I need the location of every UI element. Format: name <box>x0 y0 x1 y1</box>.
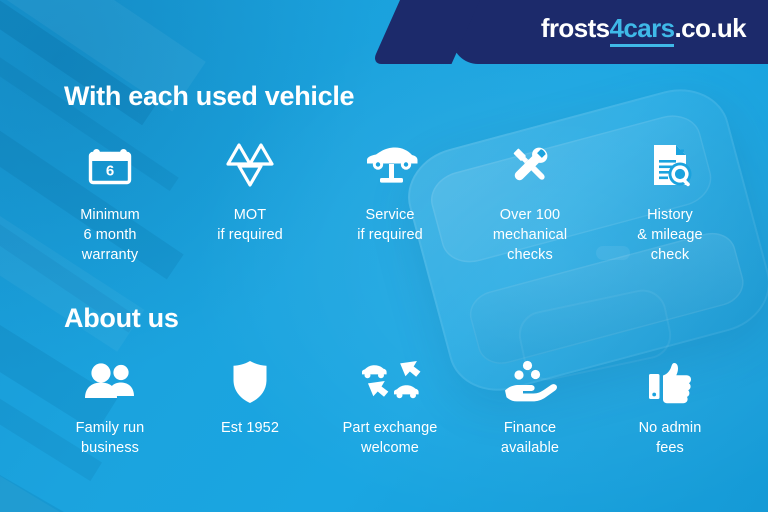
feature-row-about: Family run business Est 1952 <box>40 358 740 458</box>
svg-text:6: 6 <box>106 163 114 180</box>
logo-text-4cars: 4cars <box>610 13 675 47</box>
feature-finance: Finance available <box>460 358 600 458</box>
document-magnifier-icon <box>645 138 695 192</box>
feature-label: Finance available <box>501 418 559 458</box>
wrench-screwdriver-icon <box>504 138 556 192</box>
feature-no-admin-fees: No admin fees <box>600 358 740 458</box>
two-people-icon <box>81 358 139 406</box>
feature-label: Part exchange welcome <box>343 418 438 458</box>
hand-coins-icon <box>501 358 559 406</box>
logo-text-domain: .co.uk <box>674 13 746 43</box>
feature-label: Minimum 6 month warranty <box>80 205 140 265</box>
feature-label: Over 100 mechanical checks <box>493 205 567 265</box>
feature-family-run: Family run business <box>40 358 180 458</box>
feature-label: MOT if required <box>217 205 283 245</box>
feature-row-vehicle: 6 Minimum 6 month warranty MOT if requir… <box>40 138 740 265</box>
feature-minimum-warranty: 6 Minimum 6 month warranty <box>40 138 180 265</box>
shield-icon <box>230 358 270 406</box>
logo-text-frosts: frosts <box>541 13 610 43</box>
feature-label: Family run business <box>76 418 145 458</box>
feature-service: Service if required <box>320 138 460 245</box>
promo-banner: frosts4cars.co.uk With each used vehicle… <box>0 0 768 512</box>
thumbs-up-icon <box>645 358 695 406</box>
section-title-with-each-used-vehicle: With each used vehicle <box>64 81 354 112</box>
feature-established: Est 1952 <box>180 358 320 438</box>
mot-triangles-icon <box>224 138 276 192</box>
feature-part-exchange: Part exchange welcome <box>320 358 460 458</box>
feature-label: No admin fees <box>639 418 702 458</box>
calendar-6-icon: 6 <box>85 138 135 192</box>
section-title-about-us: About us <box>64 303 179 334</box>
feature-label: Service if required <box>357 205 423 245</box>
site-logo[interactable]: frosts4cars.co.uk <box>541 13 746 44</box>
feature-label: History & mileage check <box>637 205 702 265</box>
car-on-ramp-icon <box>359 138 421 192</box>
cars-exchange-arrows-icon <box>357 358 423 406</box>
feature-mot: MOT if required <box>180 138 320 245</box>
feature-mechanical-checks: Over 100 mechanical checks <box>460 138 600 265</box>
feature-history-mileage: History & mileage check <box>600 138 740 265</box>
feature-label: Est 1952 <box>221 418 279 438</box>
